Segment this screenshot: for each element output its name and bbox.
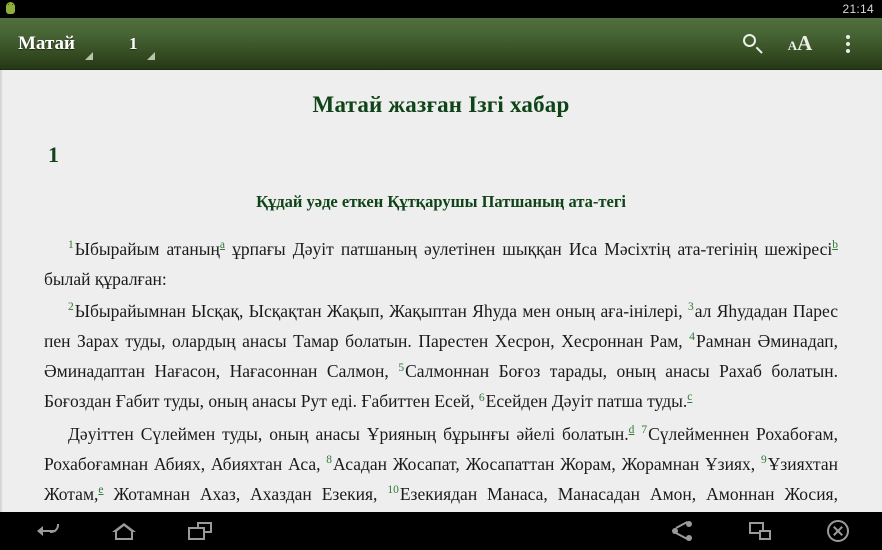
close-icon <box>827 520 849 542</box>
verse-text: Ыбырайым атаның <box>75 239 220 259</box>
footnote-marker[interactable]: b <box>832 239 838 251</box>
verse-number[interactable]: 4 <box>689 331 696 343</box>
verse-text: Дәуіттен Сүлеймен туды, оның анасы Ұриян… <box>68 424 629 444</box>
overflow-menu-icon <box>846 35 850 53</box>
font-size-icon-big-a: A <box>797 33 812 54</box>
back-icon <box>37 523 59 539</box>
verse-number[interactable]: 9 <box>761 454 768 466</box>
multi-window-icon <box>749 522 771 540</box>
action-bar: Матай 1 AA <box>0 18 882 70</box>
recent-apps-button[interactable] <box>180 512 220 550</box>
font-size-icon: AA <box>788 33 813 54</box>
recent-apps-icon <box>188 522 212 540</box>
status-bar-clock: 21:14 <box>842 2 874 16</box>
status-bar: 21:14 <box>0 0 882 18</box>
status-bar-left <box>4 2 17 16</box>
verse-paragraph: 1Ыбырайым атаныңa ұрпағы Дәуіт патшаның … <box>44 234 838 294</box>
chevron-down-icon <box>147 52 155 60</box>
home-button[interactable] <box>104 512 144 550</box>
font-size-icon-small-a: A <box>788 39 797 52</box>
footnote-marker[interactable]: c <box>687 392 692 404</box>
scripture-content: Матай жазған Ізгі хабар 1 Құдай уәде етк… <box>0 70 882 512</box>
system-navigation-bar <box>0 512 882 550</box>
verse-number[interactable]: 10 <box>387 484 400 496</box>
verse-number[interactable]: 1 <box>68 239 75 251</box>
verse-text: Езекиядан Манаса, Манасадан Амон, Амонна… <box>400 484 838 504</box>
verse-text: Асадан Жосапат, Жосапаттан Жорам, Жорамн… <box>333 454 761 474</box>
chevron-down-icon <box>85 52 93 60</box>
verse-text: Ыбырайымнан Ысқақ, Ысқақтан Жақып, Жақып… <box>75 301 688 321</box>
chapter-selector-label: 1 <box>129 34 138 54</box>
section-heading: Құдай уәде еткен Құтқарушы Патшаның ата-… <box>44 192 838 212</box>
verse-body: 1Ыбырайым атаныңa ұрпағы Дәуіт патшаның … <box>44 234 838 512</box>
verse-paragraph: 2Ыбырайымнан Ысқақ, Ысқақтан Жақып, Жақы… <box>44 296 838 416</box>
font-size-button[interactable]: AA <box>776 18 824 70</box>
overflow-menu-button[interactable] <box>824 18 872 70</box>
verse-text: ұрпағы Дәуіт патшаның әулетінен шыққан И… <box>225 239 832 259</box>
back-button[interactable] <box>28 512 68 550</box>
verse-number[interactable]: 2 <box>68 301 75 313</box>
verse-paragraph: Дәуіттен Сүлеймен туды, оның анасы Ұриян… <box>44 419 838 512</box>
android-robot-icon <box>4 2 17 16</box>
verse-text: Жотамнан Ахаз, Ахаздан Езекия, <box>104 484 388 504</box>
search-button[interactable] <box>728 18 776 70</box>
share-button[interactable] <box>662 512 702 550</box>
book-selector-label: Матай <box>18 33 75 55</box>
app-window: 21:14 Матай 1 AA <box>0 0 882 550</box>
page-title: Матай жазған Ізгі хабар <box>44 92 838 118</box>
verse-text: былай құралған: <box>44 269 167 289</box>
verse-text: Есейден Дәуіт патша туды. <box>486 391 688 411</box>
nav-left-group <box>0 512 220 550</box>
home-icon <box>112 523 136 540</box>
scripture-page[interactable]: Матай жазған Ізгі хабар 1 Құдай уәде етк… <box>0 70 882 512</box>
close-button[interactable] <box>818 512 858 550</box>
chapter-number: 1 <box>48 142 838 168</box>
nav-right-group <box>662 512 882 550</box>
share-icon <box>672 521 692 541</box>
scroll-edge <box>0 70 3 512</box>
verse-number[interactable]: 6 <box>479 392 486 404</box>
multi-window-button[interactable] <box>740 512 780 550</box>
book-selector[interactable]: Матай <box>18 18 97 70</box>
verse-number[interactable]: 3 <box>688 301 695 313</box>
search-icon <box>743 34 762 53</box>
chapter-selector[interactable]: 1 <box>129 18 160 70</box>
